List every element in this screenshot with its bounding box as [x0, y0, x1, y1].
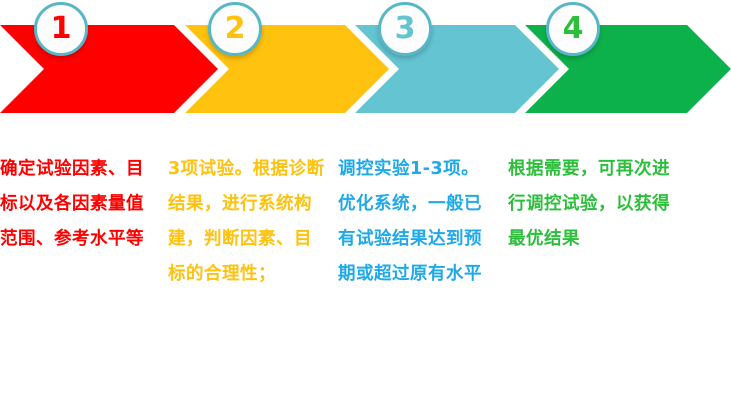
chevron-shape-1 — [0, 25, 218, 113]
step-descriptions: 确定试验因素、目标以及各因素量值范围、参考水平等 3项试验。根据诊断结果，进行系… — [0, 152, 731, 402]
step-number-badge-2[interactable]: 2 — [208, 2, 262, 56]
step-number-badge-1[interactable]: 1 — [34, 2, 88, 56]
step-description-3: 调控实验1-3项。优化系统，一般已有试验结果达到预期或超过原有水平 — [338, 152, 496, 292]
step-number-badge-4[interactable]: 4 — [546, 2, 600, 56]
process-flow-diagram: 工程设计 诊断试验 调控试验 达成目标 1 2 3 4 — [0, 0, 731, 140]
process-step-1[interactable] — [0, 25, 218, 113]
step-description-2: 3项试验。根据诊断结果，进行系统构建，判断因素、目标的合理性； — [168, 152, 326, 292]
chevron-polygon-1 — [0, 25, 218, 113]
step-number-1: 1 — [37, 5, 85, 53]
step-number-badge-3[interactable]: 3 — [378, 2, 432, 56]
step-number-3: 3 — [381, 5, 429, 53]
step-description-4: 根据需要，可再次进行调控试验，以获得最优结果 — [508, 152, 674, 257]
step-number-2: 2 — [211, 5, 259, 53]
step-number-4: 4 — [549, 5, 597, 53]
step-description-1: 确定试验因素、目标以及各因素量值范围、参考水平等 — [0, 152, 158, 257]
